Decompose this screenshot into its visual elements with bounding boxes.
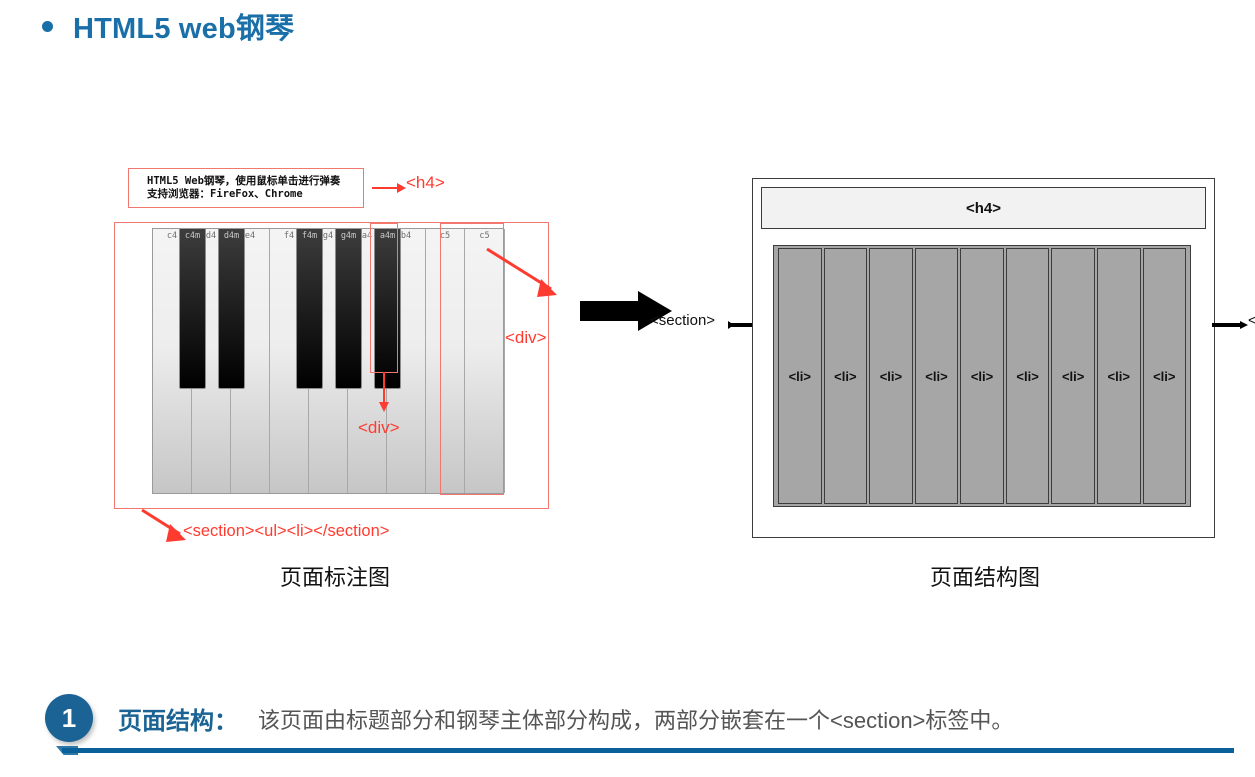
right-figure-caption: 页面结构图 [850,560,1120,592]
list-item[interactable]: <li> [915,248,959,504]
inner-div-pointer-arrow-icon [378,372,390,412]
list-item[interactable]: <li> [960,248,1004,504]
list-item[interactable]: <li> [778,248,822,504]
h4-pointer-arrow-icon [372,180,406,196]
h4-caption-line2: 支持浏览器：FireFox、Chrome [147,188,363,201]
black-key-g4m[interactable]: g4m [335,229,362,389]
ul-leader-line-icon [1212,320,1248,330]
outer-div-tag-label: <div> [505,328,547,348]
outer-div-pointer-arrow-icon [485,245,565,305]
h4-tag-label: <h4> [406,173,445,193]
black-key-label: c4m [180,231,205,241]
footer-title: 页面结构： [118,701,238,736]
ul-structure-box: <li> <li> <li> <li> <li> <li> <li> <li> … [773,245,1191,507]
black-key-label: d4m [219,231,244,241]
list-item[interactable]: <li> [1097,248,1141,504]
inner-div-tag-label: <div> [358,418,400,438]
footer-note: 1 页面结构： 该页面由标题部分和钢琴主体部分构成，两部分嵌套在一个<secti… [0,690,1255,760]
section-markup-label: <section><ul><li></section> [183,522,389,541]
h4-caption-line1: HTML5 Web钢琴，使用鼠标单击进行弹奏 [147,175,363,188]
page-title: HTML5 web钢琴 [30,4,730,48]
page-structure-figure: <section> <h4> <li> <li> <li> <li> <li> … [640,160,1255,580]
section-tag-label: <section> [650,312,715,329]
black-key-label: f4m [297,231,322,241]
list-item[interactable]: <li> [869,248,913,504]
list-item[interactable]: <li> [1006,248,1050,504]
ul-tag-label: <ul> [1248,312,1255,329]
left-figure-caption: 页面标注图 [200,560,470,592]
list-item[interactable]: <li> [1143,248,1187,504]
list-item[interactable]: <li> [824,248,868,504]
h4-structure-box: <h4> [761,187,1206,229]
bullet-icon [42,21,53,32]
list-item[interactable]: <li> [1051,248,1095,504]
page-title-text: HTML5 web钢琴 [73,5,294,47]
footer-step-badge: 1 [45,694,93,742]
footer-description: 该页面由标题部分和钢琴主体部分构成，两部分嵌套在一个<section>标签中。 [258,703,1013,735]
footer-divider [62,748,1234,753]
black-key-f4m[interactable]: f4m [296,229,323,389]
section-container-box: <h4> <li> <li> <li> <li> <li> <li> <li> … [752,178,1215,538]
black-key-highlight-rect [370,223,398,373]
black-key-c4m[interactable]: c4m [179,229,206,389]
black-key-d4m[interactable]: d4m [218,229,245,389]
annotated-page-figure: HTML5 Web钢琴，使用鼠标单击进行弹奏 支持浏览器：FireFox、Chr… [110,160,560,580]
h4-caption-box: HTML5 Web钢琴，使用鼠标单击进行弹奏 支持浏览器：FireFox、Chr… [128,168,364,208]
black-key-label: g4m [336,231,361,241]
